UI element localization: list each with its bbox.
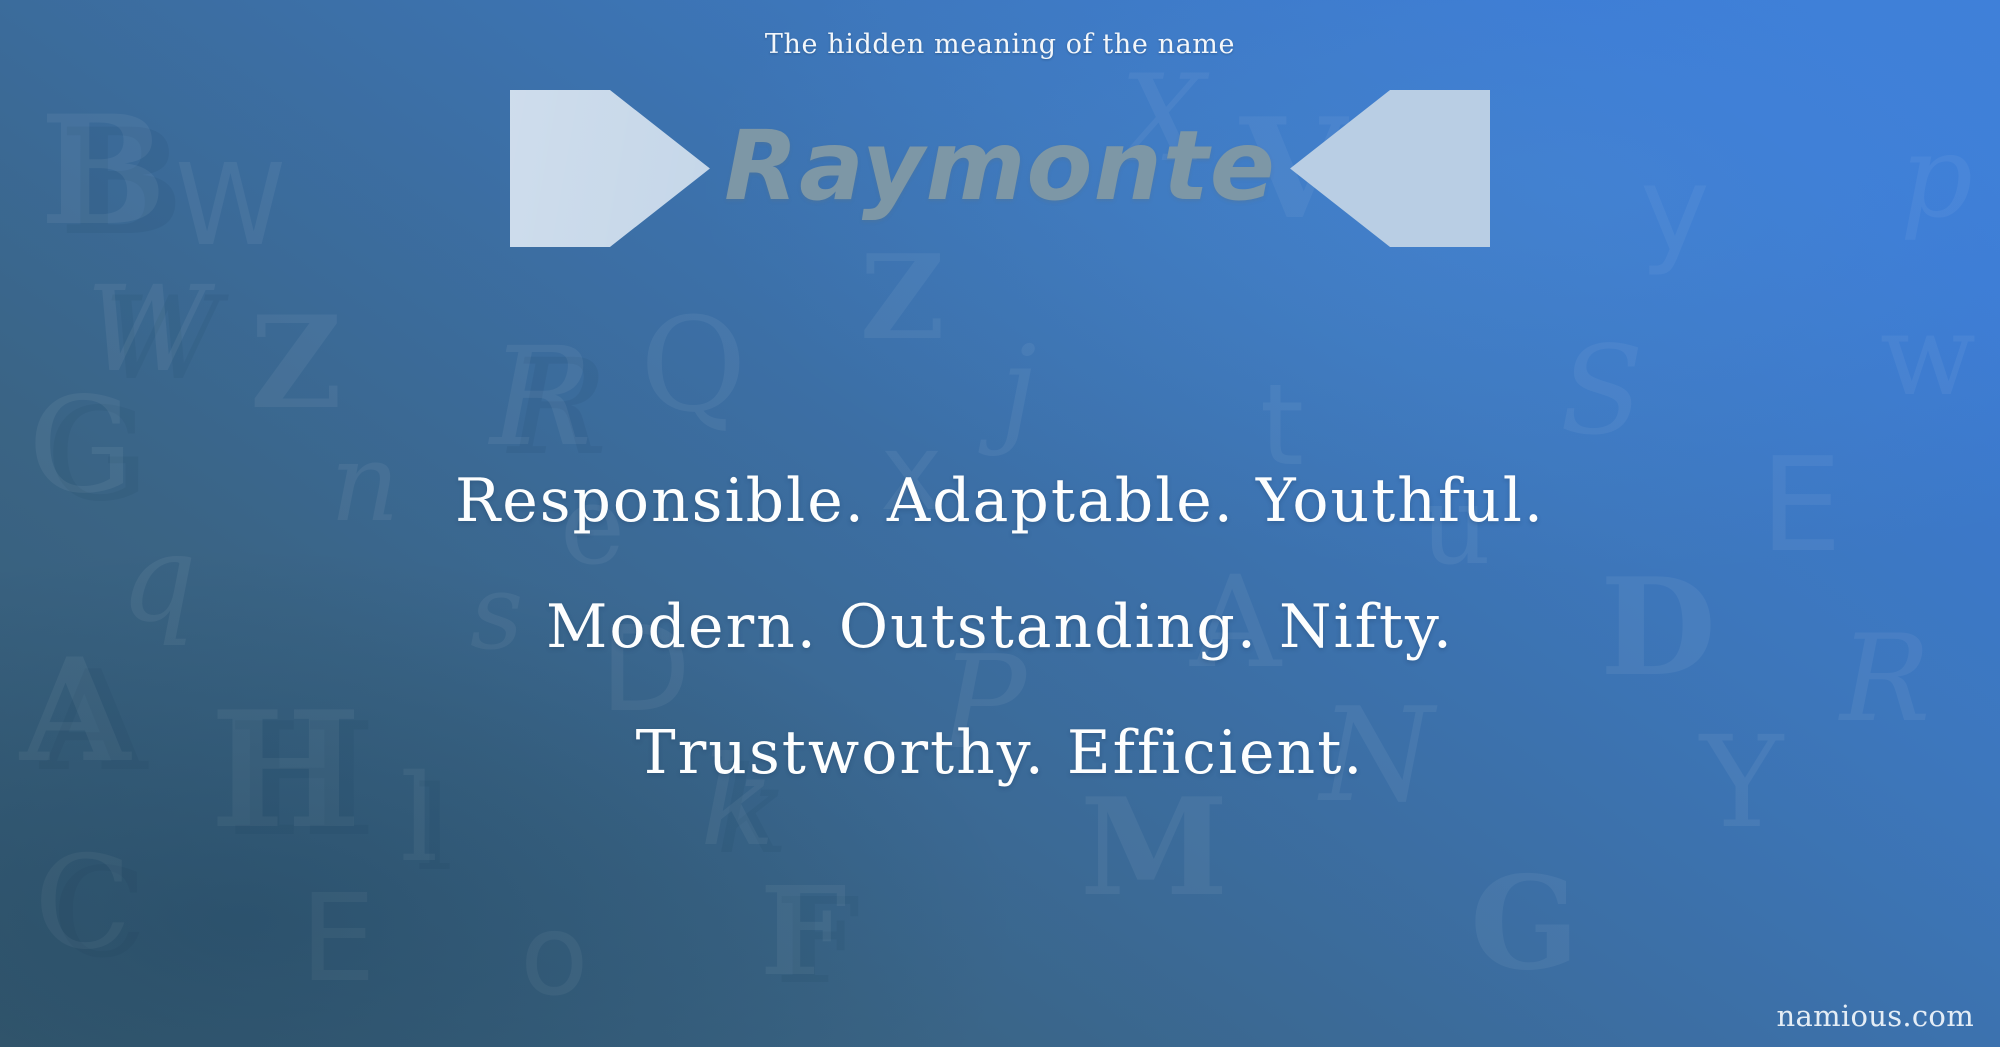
meaning-line: Trustworthy. Efficient.	[0, 690, 2000, 816]
texture-glyph: o	[520, 900, 589, 1012]
texture-glyph: Z	[860, 240, 945, 356]
texture-glyph: Z	[250, 300, 342, 426]
texture-glyph: C	[34, 840, 132, 968]
texture-glyph: B	[40, 96, 167, 246]
site-watermark: namious.com	[1777, 999, 1974, 1033]
texture-glyph: W	[175, 150, 286, 262]
texture-glyph: C	[52, 852, 147, 976]
texture-glyph: W	[86, 270, 207, 388]
texture-glyph: W	[104, 282, 221, 396]
texture-glyph: j	[1000, 330, 1037, 448]
meaning-line: Modern. Outstanding. Nifty.	[0, 564, 2000, 690]
texture-glyph: Q	[640, 300, 747, 430]
texture-glyph: F	[776, 882, 860, 1000]
texture-glyph: E	[300, 880, 376, 1000]
name-meaning-card: BGAHWCRkFl BWGqAHCZWnEResDkQFxPjMAtNuGSD…	[0, 0, 2000, 1047]
page-title: The hidden meaning of the name	[0, 29, 2000, 60]
meaning-line: Responsible. Adaptable. Youthful.	[0, 438, 2000, 564]
texture-glyph: G	[1470, 860, 1579, 988]
texture-glyph: p	[1900, 120, 1973, 234]
meaning-text-block: Responsible. Adaptable. Youthful. Modern…	[0, 438, 2000, 816]
texture-glyph: F	[760, 870, 847, 992]
name-text: Raymonte	[510, 90, 1490, 247]
texture-glyph: w	[1880, 300, 1976, 412]
texture-glyph: y	[1640, 150, 1710, 268]
texture-glyph: S	[1560, 330, 1644, 452]
texture-glyph: B	[60, 110, 183, 256]
name-banner: Raymonte	[510, 90, 1490, 247]
